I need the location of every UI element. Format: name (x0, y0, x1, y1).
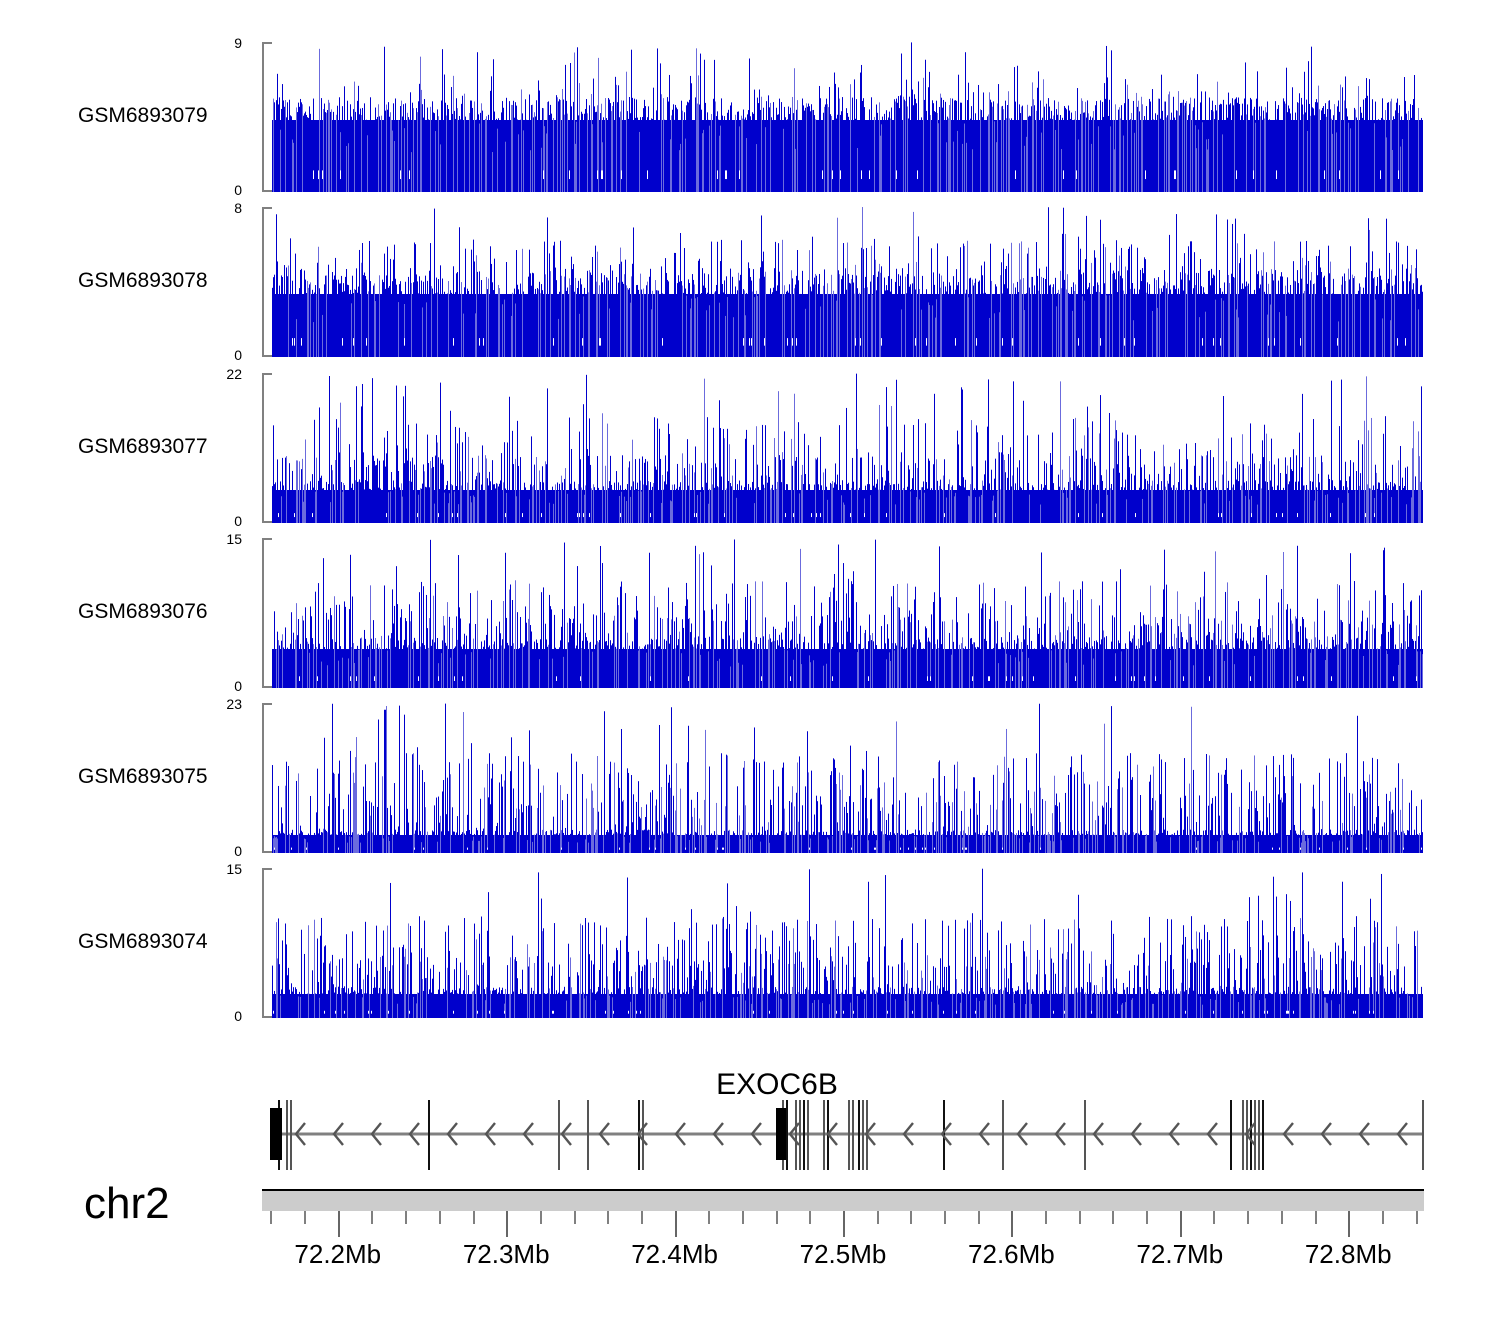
y-axis-max-label: 15 (226, 532, 242, 546)
exon-mark (803, 1100, 805, 1170)
exon-mark (1254, 1100, 1256, 1170)
axis-minor-tick (1247, 1211, 1249, 1224)
y-axis-spine (262, 42, 272, 192)
axis-minor-tick (607, 1211, 609, 1224)
axis-minor-tick (540, 1211, 542, 1224)
exon-mark (852, 1100, 854, 1170)
axis-minor-tick (473, 1211, 475, 1224)
exon-mark (807, 1100, 809, 1170)
exon-mark (428, 1100, 430, 1170)
track-label-gsm6893077: GSM6893077 (78, 436, 238, 457)
coverage-plot-area (272, 868, 1423, 1018)
track-label-gsm6893076: GSM6893076 (78, 601, 238, 622)
axis-minor-tick (944, 1211, 946, 1224)
y-axis-spine (262, 868, 272, 1018)
coverage-track: GSM689307880 (0, 207, 1500, 359)
exon-mark (558, 1100, 560, 1170)
y-axis-min-label: 0 (234, 348, 242, 362)
y-axis-min-label: 0 (234, 679, 242, 693)
y-axis-spine (262, 373, 272, 523)
axis-minor-tick (371, 1211, 373, 1224)
coverage-plot-area (272, 207, 1423, 357)
exon-mark (1422, 1100, 1424, 1170)
axis-major-tick (1180, 1211, 1182, 1237)
coverage-track: GSM689307990 (0, 42, 1500, 194)
axis-tick-label: 72.2Mb (294, 1241, 381, 1267)
axis-tick-label: 72.8Mb (1305, 1241, 1392, 1267)
axis-tick-label: 72.7Mb (1136, 1241, 1223, 1267)
exon-mark (642, 1100, 644, 1170)
axis-minor-tick (910, 1211, 912, 1224)
track-label-gsm6893074: GSM6893074 (78, 931, 238, 952)
axis-tick-label: 72.6Mb (968, 1241, 1055, 1267)
exon-mark (858, 1100, 860, 1170)
exon-mark (786, 1100, 788, 1170)
axis-minor-tick (1112, 1211, 1114, 1224)
axis-minor-tick (1416, 1211, 1418, 1224)
axis-minor-tick (439, 1211, 441, 1224)
axis-minor-tick (405, 1211, 407, 1224)
axis-major-tick (843, 1211, 845, 1237)
coverage-track: GSM6893074150 (0, 868, 1500, 1020)
genome-browser-view: GSM689307990GSM689307880GSM6893077220GSM… (0, 0, 1500, 1320)
exon-mark (795, 1100, 797, 1170)
axis-minor-tick (809, 1211, 811, 1224)
coverage-plot-area (272, 703, 1423, 853)
exon-mark (799, 1100, 801, 1170)
exon-mark (823, 1100, 825, 1170)
coverage-plot-area (272, 373, 1423, 523)
axis-minor-tick (1213, 1211, 1215, 1224)
y-axis-spine (262, 538, 272, 688)
coding-exon-block (776, 1108, 786, 1160)
axis-minor-tick (304, 1211, 306, 1224)
axis-tick-label: 72.4Mb (631, 1241, 718, 1267)
y-axis-max-label: 9 (234, 36, 242, 50)
y-axis-max-label: 22 (226, 367, 242, 381)
axis-major-tick (338, 1211, 340, 1237)
axis-tick-label: 72.5Mb (800, 1241, 887, 1267)
axis-minor-tick (1079, 1211, 1081, 1224)
y-axis-spine (262, 703, 272, 853)
chromosome-label: chr2 (84, 1182, 170, 1226)
coverage-track: GSM6893077220 (0, 373, 1500, 525)
exon-mark (1258, 1100, 1260, 1170)
exon-mark (848, 1100, 850, 1170)
axis-minor-tick (1315, 1211, 1317, 1224)
axis-major-tick (506, 1211, 508, 1237)
axis-tick-label: 72.3Mb (463, 1241, 550, 1267)
gene-annotation-track[interactable] (262, 1064, 1424, 1176)
track-label-gsm6893078: GSM6893078 (78, 270, 238, 291)
axis-major-tick (675, 1211, 677, 1237)
axis-minor-tick (708, 1211, 710, 1224)
axis-major-tick (1348, 1211, 1350, 1237)
coverage-plot-area (272, 538, 1423, 688)
ideogram-bar[interactable] (262, 1189, 1424, 1211)
axis-minor-tick (742, 1211, 744, 1224)
axis-minor-tick (1281, 1211, 1283, 1224)
axis-minor-tick (776, 1211, 778, 1224)
axis-minor-tick (978, 1211, 980, 1224)
y-axis-min-label: 0 (234, 1009, 242, 1023)
y-axis-max-label: 23 (226, 697, 242, 711)
y-axis-max-label: 8 (234, 201, 242, 215)
axis-minor-tick (1382, 1211, 1384, 1224)
coding-exon-block (270, 1108, 282, 1160)
axis-minor-tick (877, 1211, 879, 1224)
y-axis-min-label: 0 (234, 514, 242, 528)
genomic-axis: 72.2Mb72.3Mb72.4Mb72.5Mb72.6Mb72.7Mb72.8… (262, 1211, 1424, 1301)
coverage-track: GSM6893075230 (0, 703, 1500, 855)
y-axis-max-label: 15 (226, 862, 242, 876)
axis-minor-tick (1146, 1211, 1148, 1224)
y-axis-min-label: 0 (234, 844, 242, 858)
coverage-track: GSM6893076150 (0, 538, 1500, 690)
track-label-gsm6893075: GSM6893075 (78, 766, 238, 787)
exon-mark (286, 1100, 288, 1170)
exon-mark (290, 1100, 292, 1170)
axis-minor-tick (1045, 1211, 1047, 1224)
y-axis-min-label: 0 (234, 183, 242, 197)
exon-mark (1084, 1100, 1086, 1170)
exon-mark (1230, 1100, 1232, 1170)
axis-minor-tick (270, 1211, 272, 1224)
exon-mark (862, 1100, 864, 1170)
exon-mark (1002, 1100, 1004, 1170)
coverage-plot-area (272, 42, 1423, 192)
track-label-gsm6893079: GSM6893079 (78, 105, 238, 126)
axis-minor-tick (641, 1211, 643, 1224)
exon-mark (1262, 1100, 1264, 1170)
y-axis-spine (262, 207, 272, 357)
exon-mark (1242, 1100, 1244, 1170)
axis-minor-tick (574, 1211, 576, 1224)
exon-mark (587, 1100, 589, 1170)
exon-mark (1250, 1100, 1252, 1170)
axis-major-tick (1011, 1211, 1013, 1237)
